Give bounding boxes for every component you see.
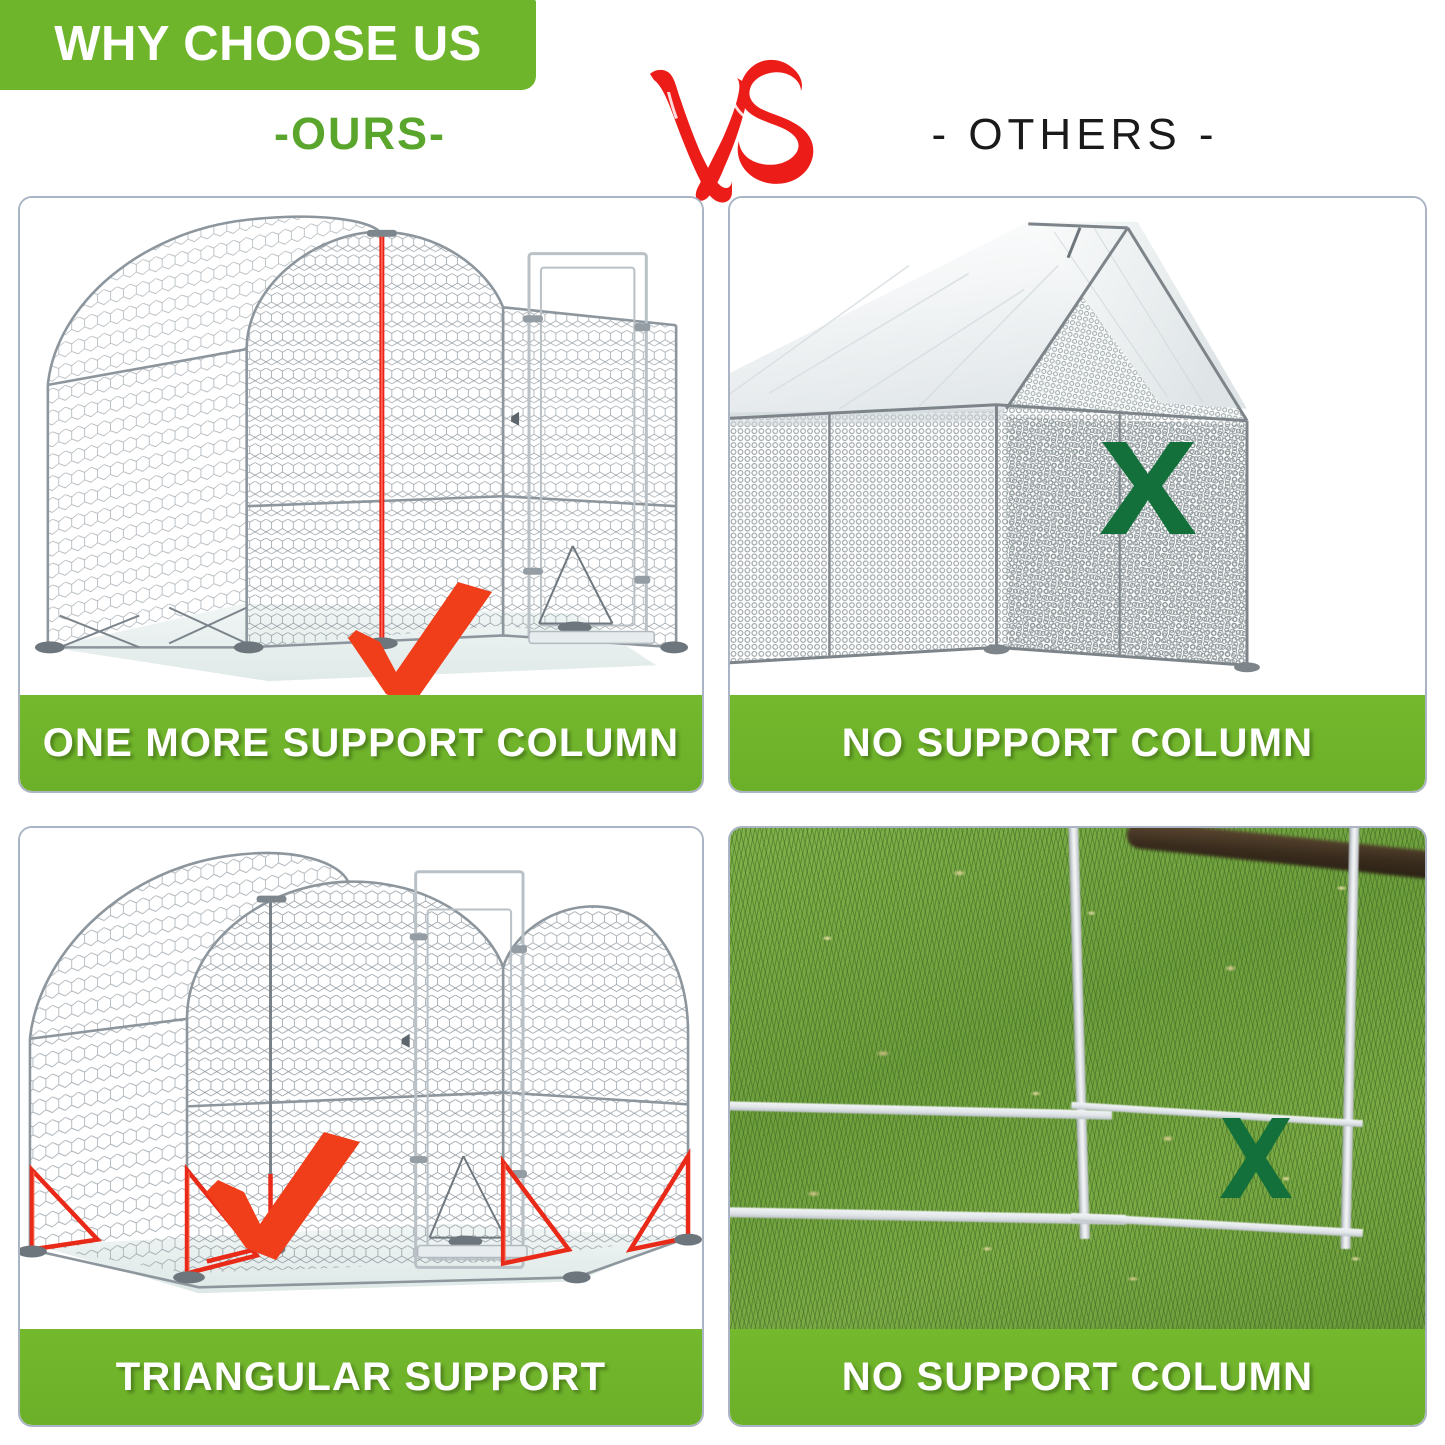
panel-bottom-left-ours: TRIANGULAR SUPPORT — [18, 826, 704, 1427]
caption-label: ONE MORE SUPPORT COLUMN — [43, 721, 680, 766]
x-mark-icon — [1096, 440, 1200, 536]
frame-pole-left — [1068, 828, 1089, 1239]
panel-top-right-others: NO SUPPORT COLUMN — [728, 196, 1427, 793]
why-choose-us-label: WHY CHOOSE US — [54, 16, 482, 74]
panel-bottom-left-media — [20, 828, 702, 1329]
frame-rail-upper-right — [1071, 1102, 1363, 1127]
x-mark-icon — [1218, 1116, 1294, 1200]
caption-bar-top-right: NO SUPPORT COLUMN — [730, 695, 1425, 791]
panel-bottom-right-others: NO SUPPORT COLUMN — [728, 826, 1427, 1427]
comparison-infographic: WHY CHOOSE US -OURS- - OTHERS - — [0, 0, 1445, 1445]
panel-top-left-ours: ONE MORE SUPPORT COLUMN — [18, 196, 704, 793]
photo-peaked-roof-coop — [730, 198, 1425, 695]
frame-rail-lower-left — [730, 1207, 1126, 1225]
fallen-branch — [1126, 828, 1425, 880]
caption-label: NO SUPPORT COLUMN — [842, 721, 1314, 766]
caption-bar-bottom-left: TRIANGULAR SUPPORT — [20, 1329, 702, 1425]
vs-icon — [640, 52, 820, 207]
panel-top-right-media — [730, 198, 1425, 695]
frame-pole-right — [1341, 828, 1360, 1249]
header: WHY CHOOSE US -OURS- - OTHERS - — [0, 0, 1445, 192]
panel-top-left-media — [20, 198, 702, 695]
frame-rail-upper-left — [730, 1101, 1112, 1120]
others-column-label: - OTHERS - — [725, 110, 1425, 160]
check-mark-icon — [200, 1128, 368, 1268]
caption-bar-top-left: ONE MORE SUPPORT COLUMN — [20, 695, 702, 791]
photo-bare-frame-on-grass — [730, 828, 1425, 1329]
ours-column-label: -OURS- — [20, 108, 700, 160]
frame-rail-lower-right — [1071, 1213, 1363, 1237]
caption-label: NO SUPPORT COLUMN — [842, 1355, 1314, 1400]
caption-bar-bottom-right: NO SUPPORT COLUMN — [730, 1329, 1425, 1425]
check-mark-icon — [340, 576, 500, 695]
panel-bottom-right-media — [730, 828, 1425, 1329]
why-choose-us-badge: WHY CHOOSE US — [0, 0, 536, 90]
caption-label: TRIANGULAR SUPPORT — [116, 1355, 607, 1400]
